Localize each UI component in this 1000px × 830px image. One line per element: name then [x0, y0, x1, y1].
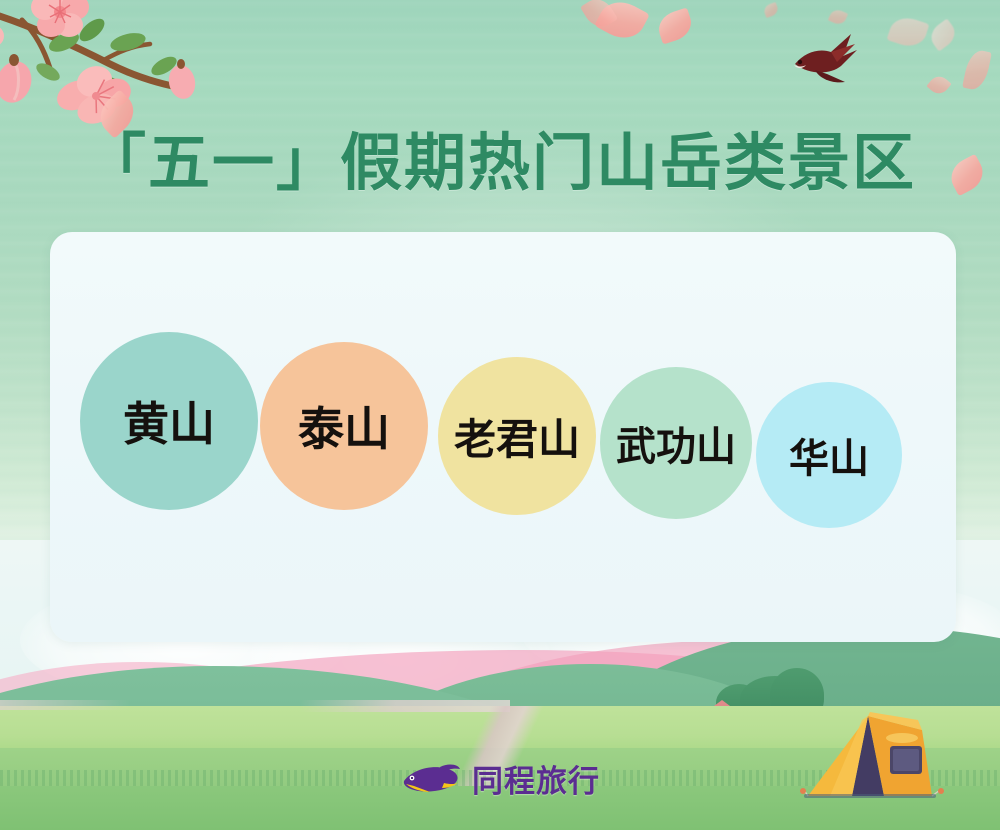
attraction-label: 黄山	[123, 388, 215, 454]
path	[0, 700, 130, 710]
attraction-bubble-3[interactable]: 老君山	[438, 357, 596, 515]
attraction-bubble-5[interactable]: 华山	[756, 382, 902, 528]
attraction-label: 武功山	[616, 414, 736, 472]
attraction-bubble-2[interactable]: 泰山	[260, 342, 428, 510]
attraction-label: 泰山	[298, 393, 390, 459]
attraction-bubble-4[interactable]: 武功山	[600, 367, 752, 519]
attraction-label: 华山	[789, 426, 869, 484]
brand-logo[interactable]: 同程旅行	[0, 756, 1000, 801]
swallow-bird-icon	[400, 761, 462, 797]
flying-swallow-icon	[785, 26, 865, 92]
attraction-bubbles: 黄山 泰山 老君山 武功山 华山	[50, 232, 956, 642]
brand-name: 同程旅行	[472, 756, 600, 801]
attraction-label: 老君山	[454, 406, 580, 467]
poster-canvas: 「五一」假期热门山岳类景区 黄山 泰山 老君山 武功山 华山	[0, 0, 1000, 830]
attraction-bubble-1[interactable]: 黄山	[80, 332, 258, 510]
